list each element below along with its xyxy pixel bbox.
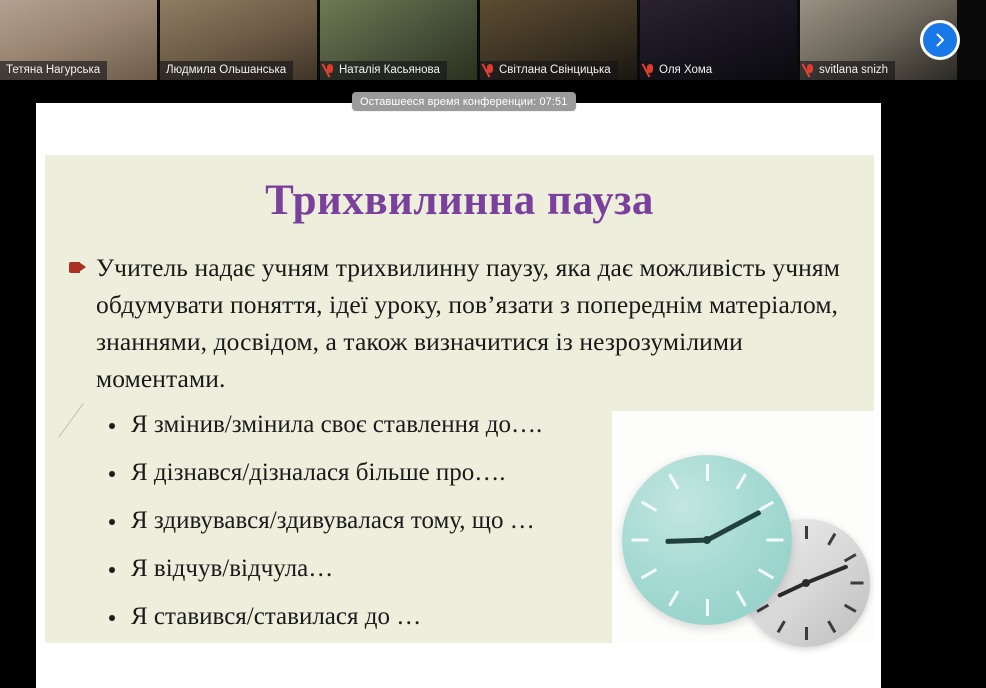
clock-tick [640, 501, 656, 512]
list-item: Я здивувався/здивувалася тому, що … [89, 497, 649, 545]
slide-content-panel: Трихвилинна пауза Учитель надає учням тр… [45, 155, 874, 643]
participant-namebar: Наталія Касьянова [320, 61, 447, 80]
clock-tick [668, 590, 679, 606]
chevron-right-icon [932, 32, 948, 48]
clock-tick [706, 599, 709, 616]
participant-namebar: Світлана Свінцицька [480, 61, 618, 80]
participant-name: Наталія Касьянова [339, 63, 440, 77]
list-item: Я відчув/відчула… [89, 545, 649, 593]
participant-name: svitlana snizh [819, 63, 888, 77]
participant-namebar: Оля Хома [640, 61, 719, 80]
clock-tick [843, 604, 856, 613]
zoom-meeting-window: Тетяна Нагурська Людмила Ольшанська Ната… [0, 0, 986, 688]
clock-tick [668, 473, 679, 489]
participant-name: Оля Хома [659, 63, 712, 77]
clock-tick [827, 620, 836, 633]
meeting-time-remaining-banner: Оставшееся время конференции: 07:51 [352, 92, 576, 111]
participant-filmstrip: Тетяна Нагурська Людмила Ольшанська Ната… [0, 0, 986, 80]
shared-screen: Трихвилинна пауза Учитель надає учням тр… [36, 103, 881, 688]
clock-illustration [614, 451, 870, 651]
participant-tile[interactable]: Людмила Ольшанська [160, 0, 317, 80]
next-page-button[interactable] [920, 20, 960, 60]
microphone-muted-icon [646, 64, 655, 77]
microphone-muted-icon [806, 64, 815, 77]
clock-tick [805, 627, 808, 640]
participant-namebar: svitlana snizh [800, 61, 895, 80]
clock-hour-hand [777, 581, 807, 598]
participant-tile[interactable]: Оля Хома [640, 0, 797, 80]
clock-tick [631, 539, 648, 542]
meeting-time-remaining-text: Оставшееся время конференции: 07:51 [360, 96, 568, 108]
slide-title: Трихвилинна пауза [45, 177, 874, 225]
list-item: Я дізнався/дізналася більше про…. [89, 449, 649, 497]
participant-tile[interactable]: Світлана Свінцицька [480, 0, 637, 80]
clock-minute-hand [706, 510, 761, 543]
clock-minute-hand [805, 564, 848, 585]
clock-hour-hand [665, 538, 707, 544]
participant-tile[interactable]: Тетяна Нагурська [0, 0, 157, 80]
clock-tick [776, 620, 785, 633]
clock-tick [805, 526, 808, 539]
slide-paragraph: Учитель надає учням трихвилинну паузу, я… [96, 249, 859, 397]
microphone-muted-icon [486, 64, 495, 77]
clock-tick [843, 553, 856, 562]
clock-tick [640, 568, 656, 579]
list-item: Я змінив/змінила своє ставлення до…. [89, 401, 649, 449]
clock-tick [735, 473, 746, 489]
clock-tick [850, 582, 863, 585]
arrow-bullet-icon [69, 262, 86, 273]
clock-tick [766, 539, 783, 542]
clock-tick [757, 568, 773, 579]
participant-name: Тетяна Нагурська [6, 63, 100, 77]
participant-name: Світлана Свінцицька [499, 63, 611, 77]
participant-namebar: Людмила Ольшанська [160, 61, 293, 80]
participant-namebar: Тетяна Нагурська [0, 61, 107, 80]
participant-tile[interactable]: Наталія Касьянова [320, 0, 477, 80]
participant-name: Людмила Ольшанська [166, 63, 286, 77]
microphone-muted-icon [326, 64, 335, 77]
clock-tick [735, 590, 746, 606]
clock-tick [827, 533, 836, 546]
clock-tick [706, 464, 709, 481]
list-item: Я ставився/ставилася до … [89, 593, 649, 641]
slide-bullet-list: Я змінив/змінила своє ставлення до…. Я д… [89, 401, 649, 641]
front-clock-icon [622, 455, 792, 625]
slide-paragraph-block: Учитель надає учням трихвилинну паузу, я… [69, 249, 859, 397]
